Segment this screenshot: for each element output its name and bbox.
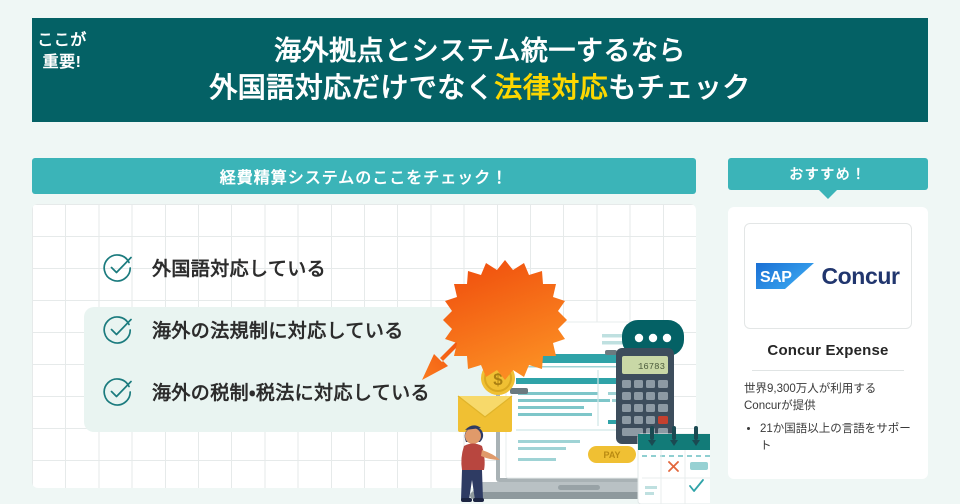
sap-logo-icon: SAP <box>756 263 814 289</box>
list-item: 21か国語以上の言語をサポート <box>760 421 912 454</box>
banner-line-2-before: 外国語対応だけでなく <box>209 72 494 103</box>
svg-text:SAP: SAP <box>760 269 792 286</box>
check-circle-icon <box>102 313 134 345</box>
banner-line-2-highlight: 法律対応 <box>494 72 608 103</box>
recommendation-tab: おすすめ！ <box>728 158 928 190</box>
list-item-label: 海外の税制・税法に対応している <box>152 378 430 405</box>
banner-line-1: 海外拠点とシステム統一するなら <box>274 34 686 69</box>
header-banner: 海外拠点とシステム統一するなら 外国語対応だけでなく法律対応もチェック <box>32 18 928 122</box>
concur-wordmark: Concur <box>821 265 899 288</box>
check-circle-icon <box>102 375 134 407</box>
pay-button-label: PAY <box>603 450 620 460</box>
checklist-header-bar: 経費精算システムのここをチェック！ <box>32 158 696 194</box>
product-description: 世界9,300万人が利用するConcurが提供 <box>744 381 912 414</box>
card-divider <box>752 370 904 371</box>
recommendation-card[interactable]: SAP Concur Concur Expense 世界9,300万人が利用する… <box>728 207 928 479</box>
product-title: Concur Expense <box>744 342 912 359</box>
infographic-page: 海外拠点とシステム統一するなら 外国語対応だけでなく法律対応もチェック 経費精算… <box>0 0 960 504</box>
list-item-label: 外国語対応している <box>152 254 326 281</box>
calculator-display: 16783 <box>638 362 665 372</box>
banner-line-2: 外国語対応だけでなく法律対応もチェック <box>209 70 751 106</box>
calendar-icon <box>638 426 710 504</box>
list-item-label: 海外の法規制に対応している <box>152 316 404 343</box>
banner-line-2-after: もチェック <box>608 72 751 103</box>
product-feature-list: 21か国語以上の言語をサポート <box>744 421 912 454</box>
product-logo: SAP Concur <box>744 223 912 329</box>
check-circle-icon <box>102 251 134 283</box>
important-burst-badge <box>443 258 567 382</box>
recommendation-tab-label: おすすめ！ <box>789 164 867 184</box>
checklist-header-label: 経費精算システムのここをチェック！ <box>220 164 509 188</box>
envelope-icon <box>458 396 512 432</box>
